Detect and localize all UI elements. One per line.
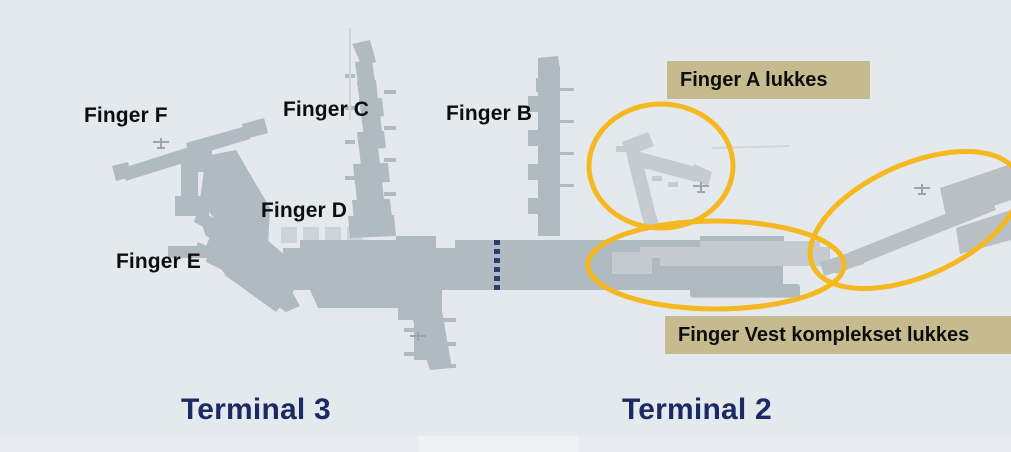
east-diagonal-pier bbox=[820, 164, 1011, 276]
callout-finger-vest-closure: Finger Vest komplekset lukkes bbox=[665, 316, 1011, 354]
callout-finger-a-closure: Finger A lukkes bbox=[667, 61, 870, 99]
finger-a-pier bbox=[616, 132, 712, 230]
bottom-band-seam bbox=[418, 436, 578, 452]
finger-vest-pier-solid bbox=[690, 284, 800, 297]
finger-label-e: Finger E bbox=[116, 250, 201, 274]
terminal-label-3: Terminal 3 bbox=[181, 393, 331, 427]
aircraft-icon bbox=[914, 184, 930, 195]
finger-c-pier bbox=[345, 40, 396, 238]
main-terminal-hall bbox=[268, 236, 583, 290]
terminal-3-buildings bbox=[112, 40, 583, 370]
aircraft-icon bbox=[153, 138, 169, 149]
finger-label-b: Finger B bbox=[446, 102, 532, 126]
terminal-label-2: Terminal 2 bbox=[622, 393, 772, 427]
terminal-map-figure: Finger F Finger C Finger B Finger D Fing… bbox=[0, 0, 1011, 452]
finger-label-f: Finger F bbox=[84, 104, 168, 128]
south-pier bbox=[310, 288, 456, 370]
finger-b-pier bbox=[528, 56, 574, 236]
finger-label-c: Finger C bbox=[283, 98, 369, 122]
finger-label-d: Finger D bbox=[261, 199, 347, 223]
